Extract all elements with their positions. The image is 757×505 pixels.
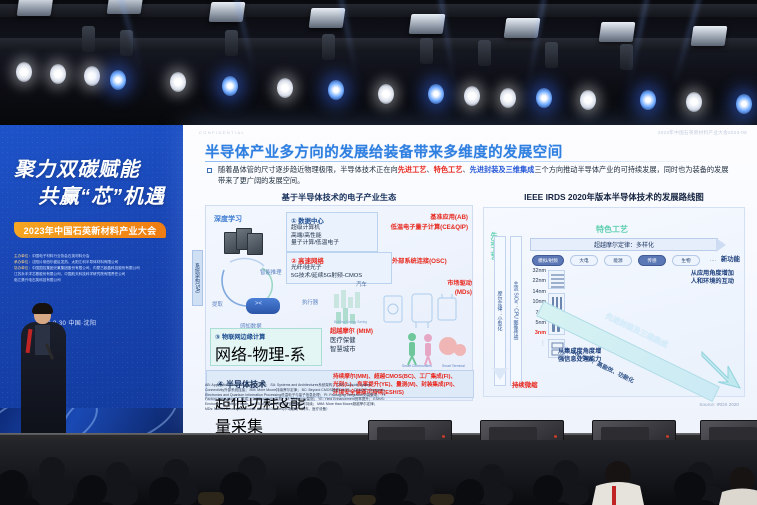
loop-label-inference: 智能推理: [260, 268, 282, 276]
legend-line: MDs: Market Drivers(Automobile, Medical …: [205, 407, 477, 412]
light-yoke: [225, 30, 238, 56]
slide-confidential-mark: CONFIDENTIAL: [199, 130, 245, 135]
red-tag-ceqip: 低温电子量子计算(CE&QIP): [374, 224, 468, 232]
note-integration-angle: 从集成度角度增 强信息处理能力: [558, 348, 601, 365]
left-diagram-body: 系统架构(SA) 深度学习 智能推理 提取 感知数据 执行器: [205, 205, 473, 401]
card-line: 量子计算/低温电子: [291, 240, 373, 248]
pill-sensor: 传感: [638, 255, 666, 266]
spotlight-white: [500, 88, 516, 108]
node-tick-highlight: 3nm: [526, 328, 546, 338]
new-function-label: 新功能: [721, 254, 740, 263]
loop-label-actuator: 执行器: [302, 298, 318, 306]
bullet-text: 随着晶体管的尺寸逐步趋近物理极限，半导体技术正在向先进工艺、特色工艺、先进封装及…: [218, 164, 735, 186]
pill-power: 大电: [570, 255, 598, 266]
card-data-center: ① 数据中心 超级计算机 高端/高性能 量子计算/低温电子: [286, 212, 378, 252]
server-rack-icon: [224, 228, 264, 258]
note-line: 强信息处理能力: [558, 356, 601, 364]
pill-energy: 能源: [604, 255, 632, 266]
left-diagram-title: 基于半导体技术的电子产业生态: [205, 191, 473, 203]
presenter: [18, 305, 70, 435]
light-yoke: [545, 42, 558, 68]
spotlight-white: [170, 72, 186, 92]
banner-organizers: 主办单位：中国电子材料行业协会石英材料分会 承办单位：沈阳片帝西尔盛区发热、太阳…: [14, 253, 174, 283]
projection-screen: CONFIDENTIAL 2023年中国石英新材料产业大会2023-08 半导体…: [183, 125, 757, 435]
spotlight-white: [686, 92, 702, 112]
light-yoke: [322, 34, 335, 60]
continuous-scaling-label: 持续微缩: [512, 380, 538, 389]
card-head: ③ 物联网边缘计算: [215, 332, 317, 341]
pill-analog-rf: 模拟/射频: [532, 255, 564, 266]
note-line: 人和环境的互动: [691, 278, 734, 286]
truss-bar-lower: [0, 38, 757, 51]
card-high-speed-network: ② 高速网络 光纤/硅光子 5G技术/延续5G射频-CMOS: [286, 252, 392, 284]
irds-roadmap-diagram: IEEE IRDS 2020年版本半导体技术的发展路线图 特色工艺 超越摩尔定律…: [483, 191, 745, 409]
slide-bullet: 随着晶体管的尺寸逐步趋近物理极限，半导体技术正在向先进工艺、特色工艺、先进封装及…: [207, 164, 735, 186]
red-tag-osc: 外部系统连接(OSC): [392, 258, 470, 266]
right-diagram-body: 特色工艺 超越摩尔定律：多样化 模拟/射频 大电 能源 传感 生物 ···· 新…: [483, 207, 745, 397]
right-diagram-title: IEEE IRDS 2020年版本半导体技术的发展路线图: [483, 191, 745, 203]
more-than-moore-arrow: 超越摩尔定律：多样化: [530, 238, 718, 251]
banner-slogan: 聚力双碳赋能 共赢“芯”机遇: [14, 153, 172, 209]
sa-axis-label: 系统架构(SA): [192, 250, 203, 306]
red-tag-mds-1: 市场驱动: [426, 280, 472, 288]
card-iot-edge: ③ 物联网边缘计算 网络-物理-系统 超低功耗&能量采集 超低功耗无线: [210, 328, 322, 366]
mainstream-axis: 主流 SiOx：CPU 图像传感: [510, 236, 522, 386]
stage-light-blade: [599, 22, 636, 42]
conference-hall-photo: 聚力双碳赋能 共赢“芯”机遇 2023年中国石英新材料产业大会 主办单位：中国电…: [0, 0, 757, 505]
source-credit: Source: IRDS 2020: [699, 402, 739, 407]
stage-light-blade: [409, 14, 446, 34]
red-tag-ab: 基准应用(AB): [388, 214, 468, 222]
spotlight-blue: [428, 84, 444, 104]
stage-light-blade: [17, 0, 54, 16]
slide-title: 半导体产业多方向的发展给装备带来多维度的发展空间: [205, 141, 563, 162]
node-tick: 14nm: [526, 287, 546, 297]
card-line: 5G技术/延续5G射频-CMOS: [291, 273, 387, 281]
electronics-ecosystem-diagram: 基于半导体技术的电子产业生态 系统架构(SA) 深度学习 智能推理 提取 感知: [205, 191, 473, 409]
spotlight-white: [378, 84, 394, 104]
audience-silhouettes: [0, 440, 757, 505]
red-tag-mds-2: (MDs): [426, 289, 472, 297]
audience-attendee-light-shirt: [592, 461, 644, 505]
banner-slogan-line1: 聚力双碳赋能: [14, 153, 172, 182]
node-tick: 22nm: [526, 276, 546, 286]
spotlight-white: [580, 90, 596, 110]
card-head: ① 数据中心: [291, 216, 373, 225]
spotlight-white: [16, 62, 32, 82]
spotlight-blue: [536, 88, 552, 108]
spotlight-blue: [328, 80, 344, 100]
ceiling-truss-area: [0, 0, 757, 128]
label-energy-saving: Building Energy Saving: [334, 320, 367, 324]
title-divider: [205, 161, 711, 162]
organizer-line: 临江昊兴电石英科技有限公司: [14, 277, 174, 283]
bullet-square-icon: [207, 168, 212, 173]
audience-area: [0, 440, 757, 505]
spotlight-blue: [736, 94, 752, 114]
label-automobile: 汽车: [356, 280, 367, 288]
mtm-line: 医疗保健: [330, 336, 410, 345]
network-router-icon: [246, 298, 280, 314]
mtm-block: 超越摩尔 (MtM) 医疗保健 智慧城市: [330, 328, 410, 354]
stage-light-blade: [309, 8, 346, 28]
tese-gongyi-label: 特色工艺: [596, 224, 628, 235]
card-head: ② 高速网络: [291, 256, 387, 265]
moore-scaling-axis: 摩尔定律：小型化: [494, 236, 506, 386]
slide-header-meta: 2023年中国石英新材料产业大会2023-08: [658, 130, 747, 136]
light-yoke: [420, 38, 433, 64]
node-ellipsis: ⋮: [526, 339, 546, 349]
direction-arrow-teal: [698, 348, 742, 392]
spotlight-white: [464, 86, 480, 106]
presenter-hair: [32, 303, 53, 314]
spotlight-white: [84, 66, 100, 86]
scaling-down-arrow: [492, 368, 508, 380]
deep-learning-label: 深度学习: [214, 214, 242, 224]
note-application-angle: 从应用角度增加 人和环境的互动: [691, 270, 734, 287]
card-line: 光纤/硅光子: [291, 265, 387, 273]
mtm-head: 超越摩尔 (MtM): [330, 328, 410, 336]
band-red-line: 持续摩尔(MM)、超越CMOS(BC)、工厂集成(FI)、: [333, 373, 475, 381]
abbreviation-legend: AB: Application Benchmarking基准应用； SA: Sy…: [205, 383, 477, 412]
light-yoke: [478, 40, 491, 66]
label-smart-communities: Smart Communities: [402, 364, 432, 368]
spotlight-blue: [640, 90, 656, 110]
light-yoke: [82, 26, 95, 52]
stage-light-blade: [691, 26, 728, 46]
banner-conference-title: 2023年中国石英新材料产业大会: [14, 222, 166, 238]
loop-label-extract: 提取: [212, 300, 223, 308]
mtm-line: 智慧城市: [330, 345, 410, 354]
spotlight-white: [50, 64, 66, 84]
pill-bio: 生物: [672, 255, 700, 266]
pill-ellipsis: ····: [704, 255, 722, 266]
node-tick: 32nm: [526, 266, 546, 276]
label-smart-terminal: Smart Terminal: [442, 364, 465, 368]
spotlight-blue: [110, 70, 126, 90]
audience-attendee-light-shirt-2: [719, 467, 757, 505]
banner-slogan-line2: 共赢“芯”机遇: [38, 180, 172, 209]
people-icons: [402, 330, 470, 366]
card-line: 超级计算机: [291, 225, 373, 233]
chip-icon-planar: [548, 270, 565, 289]
spotlight-white: [277, 78, 293, 98]
spotlight-blue: [222, 76, 238, 96]
